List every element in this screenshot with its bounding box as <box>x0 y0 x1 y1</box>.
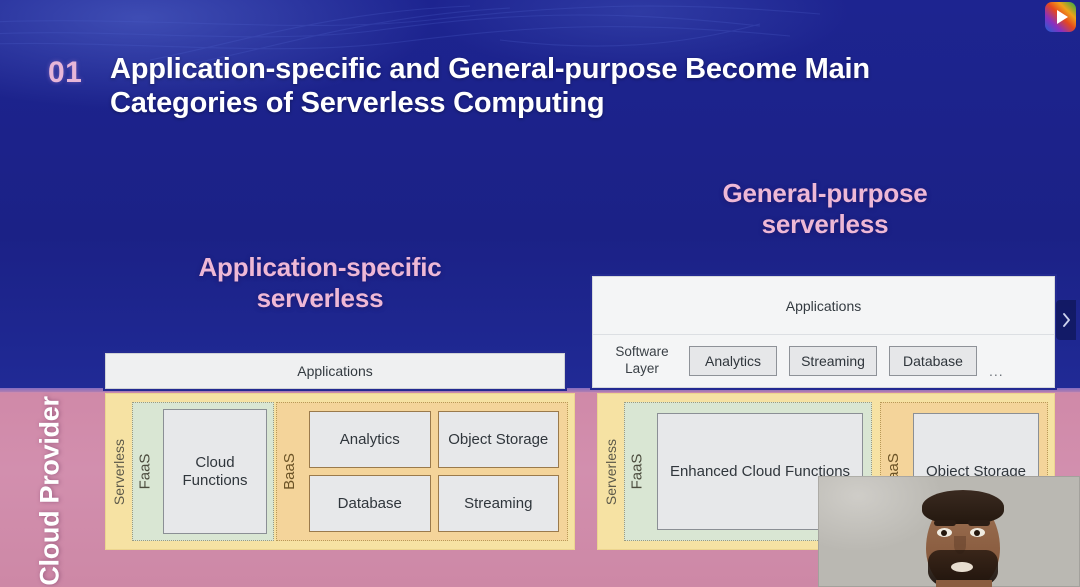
right-serverless-label: Serverless <box>603 438 619 504</box>
right-faas-label: FaaS <box>629 454 646 490</box>
left-faas-rail: FaaS <box>133 403 157 540</box>
left-applications-bar: Applications <box>105 353 565 389</box>
right-applications-label: Applications <box>786 298 862 314</box>
left-serverless-rail: Serverless <box>106 394 132 549</box>
cloud-provider-rail: Cloud Provider <box>4 398 96 583</box>
left-serverless-container: Serverless FaaS Cloud Functions BaaS Ana… <box>105 393 575 550</box>
service-box-cloud-functions: Cloud Functions <box>163 409 267 534</box>
webcam-brow-left <box>934 520 956 526</box>
left-baas-grid: Analytics Object Storage Database Stream… <box>301 403 567 540</box>
webcam-hair <box>922 490 1004 524</box>
webcam-pupil-left <box>941 530 947 536</box>
left-faas-zone: FaaS Cloud Functions <box>132 402 274 541</box>
right-upper-panel: Applications Software Layer Analytics St… <box>592 276 1055 388</box>
right-applications-row: Applications <box>593 277 1054 335</box>
left-section-heading: Application-specific serverless <box>140 252 500 314</box>
presenter-webcam[interactable] <box>818 476 1080 587</box>
service-box-database: Database <box>309 475 431 532</box>
webcam-pupil-right <box>974 530 980 536</box>
next-slide-button[interactable] <box>1056 300 1076 340</box>
right-section-heading: General-purpose serverless <box>660 178 990 240</box>
service-box-streaming: Streaming <box>438 475 560 532</box>
cloud-provider-label: Cloud Provider <box>35 396 66 585</box>
left-baas-rail: BaaS <box>277 403 301 540</box>
software-chip-analytics: Analytics <box>689 346 777 376</box>
right-serverless-rail: Serverless <box>598 394 624 549</box>
left-serverless-label: Serverless <box>111 438 127 504</box>
page-title: Application-specific and General-purpose… <box>110 53 940 121</box>
play-logo-button[interactable] <box>1041 1 1077 34</box>
left-applications-label: Applications <box>297 363 373 379</box>
left-baas-zone: BaaS Analytics Object Storage Database S… <box>276 402 568 541</box>
webcam-brow-right <box>968 520 990 526</box>
software-layer-more: ... <box>989 363 1004 387</box>
chevron-right-icon <box>1062 313 1071 327</box>
right-faas-rail: FaaS <box>625 403 649 540</box>
software-chip-streaming: Streaming <box>789 346 877 376</box>
left-faas-body: Cloud Functions <box>157 403 273 540</box>
service-box-analytics: Analytics <box>309 411 431 468</box>
slide-canvas: 01 Application-specific and General-purp… <box>0 0 1080 587</box>
left-faas-label: FaaS <box>137 454 154 490</box>
service-box-object-storage: Object Storage <box>438 411 560 468</box>
webcam-mouth <box>951 562 973 572</box>
left-baas-label: BaaS <box>281 453 298 490</box>
software-chip-database: Database <box>889 346 977 376</box>
software-layer-label: Software Layer <box>607 344 677 378</box>
slide-number: 01 <box>48 56 82 90</box>
play-logo-icon <box>1041 1 1077 34</box>
webcam-neck <box>936 580 992 587</box>
software-layer-row: Software Layer Analytics Streaming Datab… <box>593 335 1054 387</box>
